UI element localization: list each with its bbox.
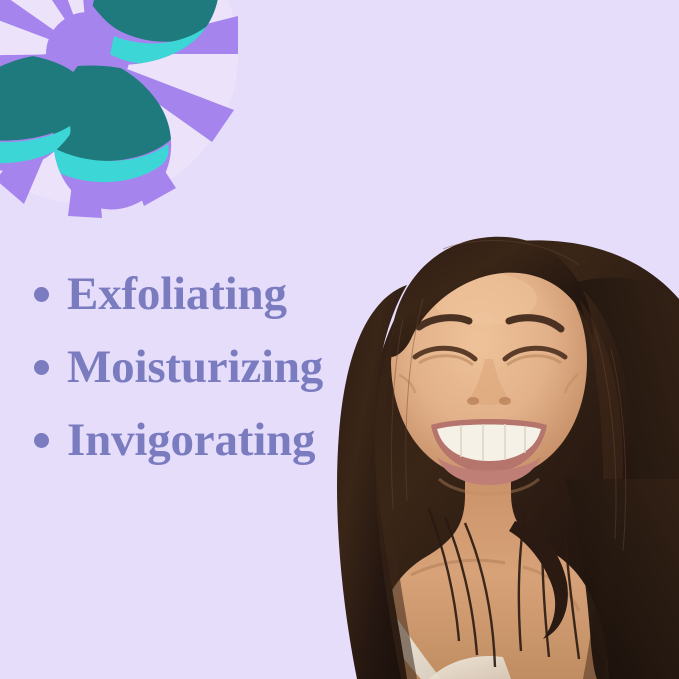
bullet-icon <box>34 433 49 448</box>
bullet-icon <box>34 287 49 302</box>
teal-blob-lower <box>32 66 179 183</box>
floral-starburst-graphic <box>0 0 238 224</box>
nostril-right <box>499 397 511 405</box>
benefit-label: Invigorating <box>67 417 315 464</box>
list-item: Exfoliating <box>34 258 434 331</box>
bullet-icon <box>34 360 49 375</box>
benefit-label: Exfoliating <box>67 271 287 318</box>
starburst-petals <box>0 0 238 218</box>
teal-blob-left <box>0 53 84 163</box>
list-item: Invigorating <box>34 404 434 477</box>
teal-blob-upper <box>44 0 232 64</box>
nostril-left <box>467 397 479 405</box>
list-item: Moisturizing <box>34 331 434 404</box>
benefits-list: Exfoliating Moisturizing Invigorating <box>34 258 434 477</box>
petal-lobes <box>0 0 219 209</box>
benefit-label: Moisturizing <box>67 344 323 391</box>
product-benefits-banner: Exfoliating Moisturizing Invigorating <box>0 0 679 679</box>
